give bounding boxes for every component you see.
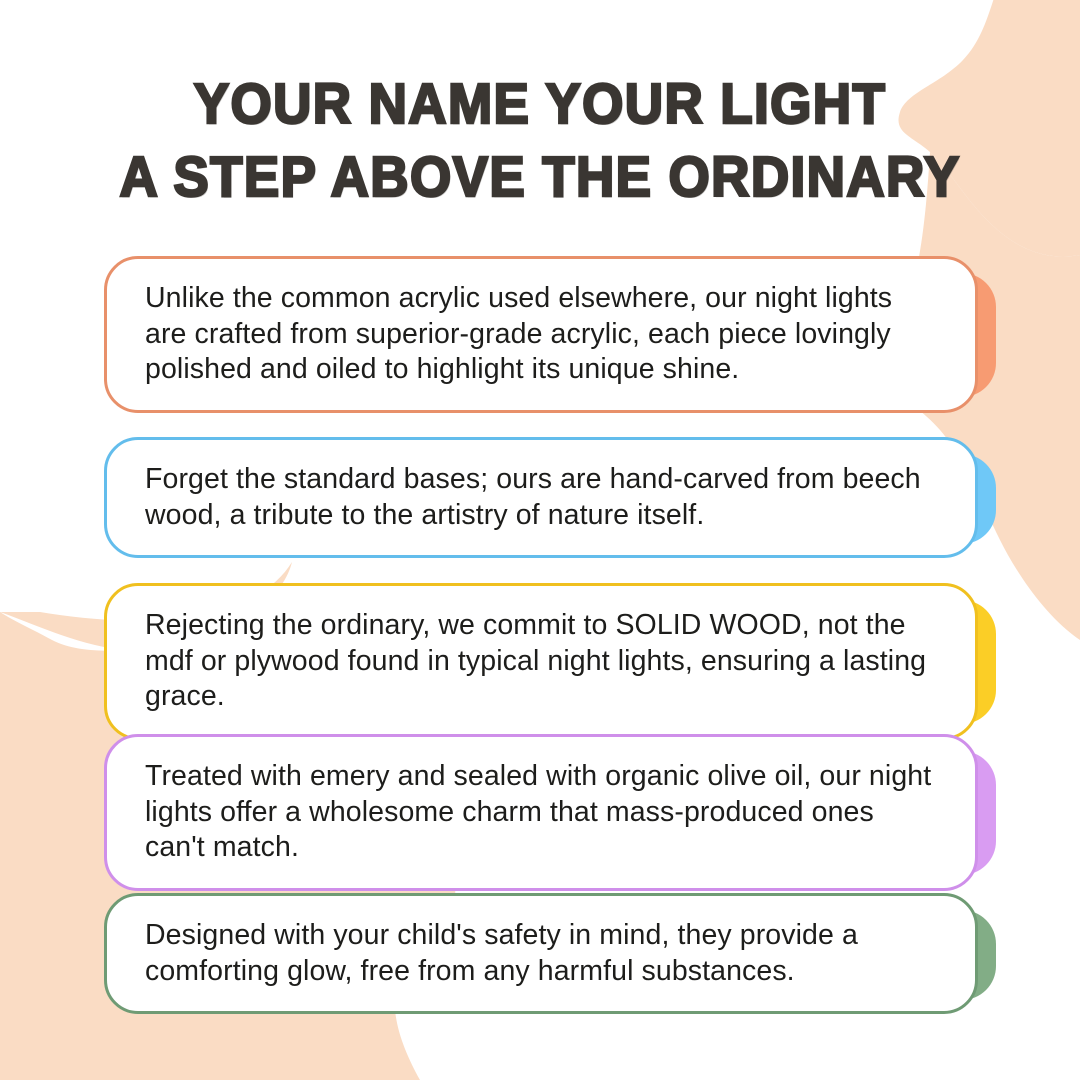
feature-card-child-safety[interactable]: Designed with your child's safety in min…	[104, 893, 978, 983]
feature-card-olive-oil[interactable]: Treated with emery and sealed with organ…	[104, 734, 978, 858]
feature-card-beech-wood[interactable]: Forget the standard bases; ours are hand…	[104, 437, 978, 527]
feature-card-solid-wood[interactable]: Rejecting the ordinary, we commit to SOL…	[104, 583, 978, 707]
card-text: Rejecting the ordinary, we commit to SOL…	[145, 608, 941, 715]
card-panel: Rejecting the ordinary, we commit to SOL…	[104, 583, 978, 740]
card-text: Forget the standard bases; ours are hand…	[145, 462, 941, 533]
feature-card-acrylic[interactable]: Unlike the common acrylic used elsewhere…	[104, 256, 978, 380]
poster-canvas: YOUR NAME YOUR LIGHT A STEP ABOVE THE OR…	[0, 0, 1080, 1080]
card-text: Treated with emery and sealed with organ…	[145, 759, 941, 866]
card-panel: Unlike the common acrylic used elsewhere…	[104, 256, 978, 413]
card-text: Unlike the common acrylic used elsewhere…	[145, 281, 941, 388]
title-line-2: A STEP ABOVE THE ORDINARY	[38, 141, 1042, 214]
card-panel: Designed with your child's safety in min…	[104, 893, 978, 1014]
card-panel: Forget the standard bases; ours are hand…	[104, 437, 978, 558]
page-title: YOUR NAME YOUR LIGHT A STEP ABOVE THE OR…	[0, 68, 1080, 214]
card-text: Designed with your child's safety in min…	[145, 918, 941, 989]
card-panel: Treated with emery and sealed with organ…	[104, 734, 978, 891]
title-line-1: YOUR NAME YOUR LIGHT	[38, 68, 1042, 141]
